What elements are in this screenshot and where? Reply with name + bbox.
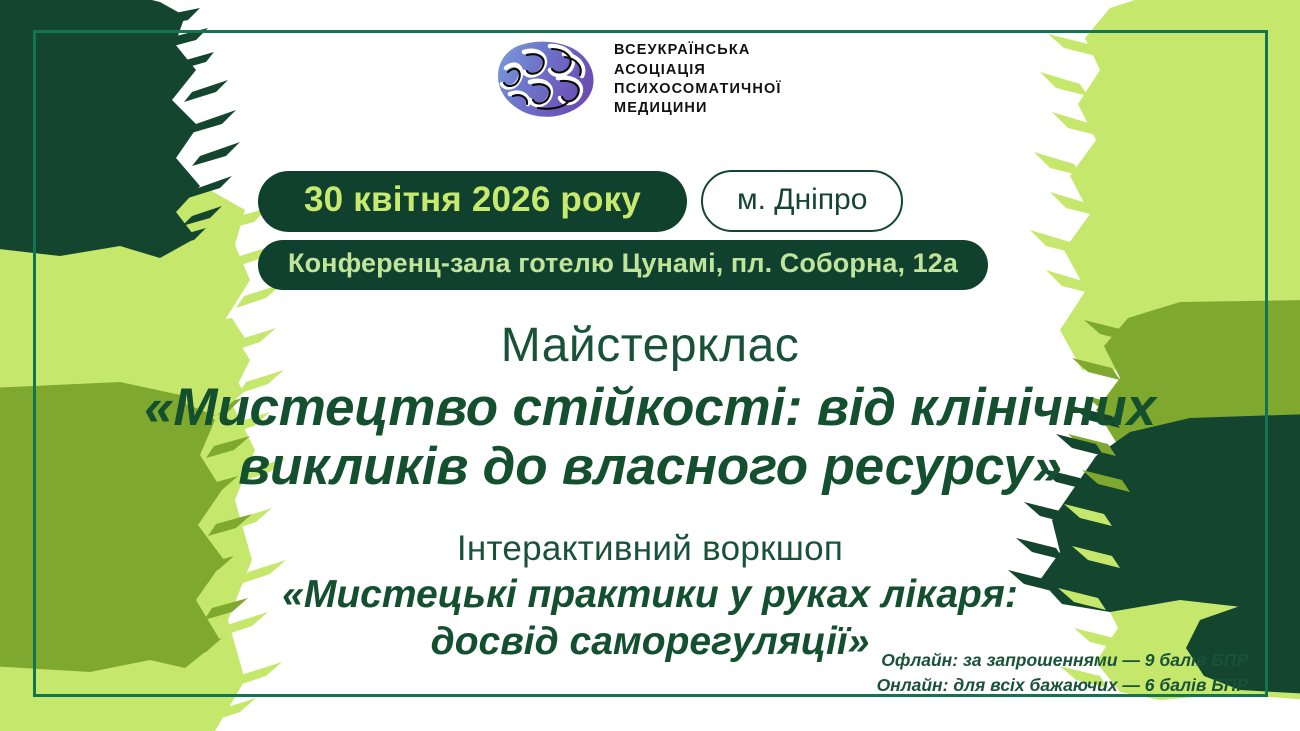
org-line-4: МЕДИЦИНИ: [614, 99, 782, 118]
org-line-3: ПСИХОСОМАТИЧНОЇ: [614, 80, 782, 99]
workshop-label: Інтерактивний воркшоп: [0, 529, 1300, 569]
footnote-offline: Офлайн: за запрошеннями — 9 балів БПР: [877, 648, 1248, 673]
masterclass-label: Майстерклас: [0, 318, 1300, 373]
event-date-badge: 30 квітня 2026 року: [258, 171, 687, 232]
badge-row: 30 квітня 2026 року м. Дніпро: [258, 170, 903, 232]
org-line-1: ВСЕУКРАЇНСЬКА: [614, 41, 782, 60]
masterclass-title: «Мистецтво стійкості: від клінічних викл…: [0, 378, 1300, 497]
footnote-online: Онлайн: для всіх бажаючих — 6 балів БПР: [877, 673, 1248, 698]
masterclass-title-line-2: викликів до власного ресурсу»: [0, 437, 1300, 496]
event-poster: ВСЕУКРАЇНСЬКА АСОЦІАЦІЯ ПСИХОСОМАТИЧНОЇ …: [0, 0, 1300, 731]
credit-footnotes: Офлайн: за запрошеннями — 9 балів БПР Он…: [877, 648, 1248, 698]
masterclass-title-line-1: «Мистецтво стійкості: від клінічних: [0, 378, 1300, 437]
event-venue-badge: Конференц-зала готелю Цунамі, пл. Соборн…: [258, 240, 988, 290]
organization-name: ВСЕУКРАЇНСЬКА АСОЦІАЦІЯ ПСИХОСОМАТИЧНОЇ …: [614, 41, 782, 118]
workshop-title-line-1: «Мистецькі практики у руках лікаря:: [0, 572, 1300, 619]
brain-icon: [494, 38, 598, 122]
event-city-badge: м. Дніпро: [701, 170, 903, 232]
org-line-2: АСОЦІАЦІЯ: [614, 61, 782, 80]
association-logo: ВСЕУКРАЇНСЬКА АСОЦІАЦІЯ ПСИХОСОМАТИЧНОЇ …: [494, 38, 782, 122]
